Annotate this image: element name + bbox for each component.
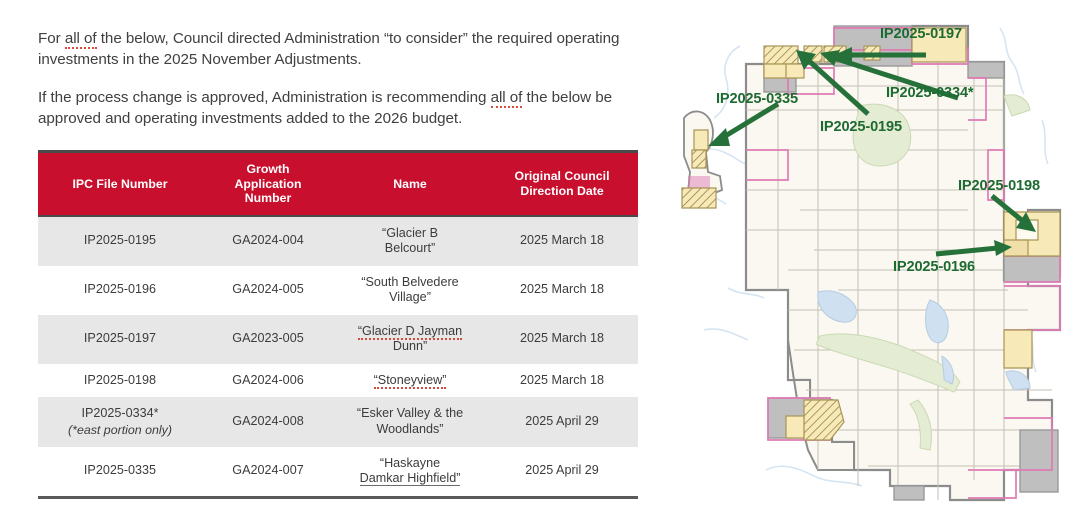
- header-line: Direction Date: [520, 184, 603, 198]
- direction-date-value: 2025 March 18: [520, 331, 604, 345]
- growth-area-north-solid: [786, 64, 804, 78]
- growth-area-se: [1004, 330, 1032, 368]
- paragraph-2-part-a: If the process change is approved, Admin…: [38, 89, 491, 106]
- cell-growth-application-number: GA2023-005: [202, 315, 334, 364]
- table-row: IP2025-0197 GA2023-005 “Glacier D Jayman…: [38, 315, 638, 364]
- header-line: Name: [393, 177, 427, 191]
- name-line-1: “Glacier B: [382, 226, 438, 240]
- cell-name: “Glacier B Belcourt”: [334, 216, 486, 266]
- cell-name: “Stoneyview”: [334, 364, 486, 398]
- name-line-1: “Esker Valley & the: [357, 406, 463, 420]
- ipc-file-number-note: (*east portion only): [42, 422, 198, 438]
- cell-ipc-file-number: IP2025-0335: [38, 447, 202, 498]
- ipc-file-number-value: IP2025-0196: [84, 282, 156, 296]
- ipc-file-table: IPC File Number Growth Application Numbe…: [38, 150, 638, 499]
- direction-date-value: 2025 March 18: [520, 282, 604, 296]
- map-label-ip2025-0198: IP2025-0198: [958, 178, 1040, 194]
- map-label-ip2025-0335: IP2025-0335: [716, 91, 798, 107]
- map-label-ip2025-0197: IP2025-0197: [880, 26, 962, 42]
- paragraph-1-part-a: For: [38, 30, 65, 47]
- ipc-file-number-value: IP2025-0197: [84, 331, 156, 345]
- cell-ipc-file-number: IP2025-0197: [38, 315, 202, 364]
- growth-area-nw-island-c: [682, 188, 716, 208]
- table-row: IP2025-0196 GA2024-005 “South Belvedere …: [38, 266, 638, 315]
- table-row: IP2025-0198 GA2024-006 “Stoneyview” 2025…: [38, 364, 638, 398]
- cell-original-council-direction-date: 2025 March 18: [486, 315, 638, 364]
- cell-original-council-direction-date: 2025 March 18: [486, 364, 638, 398]
- table-header: IPC File Number Growth Application Numbe…: [38, 152, 638, 216]
- growth-application-number-value: GA2024-008: [232, 414, 303, 428]
- header-line: Application: [235, 177, 302, 191]
- header-line: Original Council: [515, 169, 610, 183]
- ipc-file-number-value: IP2025-0198: [84, 373, 156, 387]
- cell-growth-application-number: GA2024-004: [202, 216, 334, 266]
- cell-ipc-file-number: IP2025-0196: [38, 266, 202, 315]
- name-line-1: “Glacier D Jayman: [358, 324, 462, 340]
- cell-original-council-direction-date: 2025 March 18: [486, 266, 638, 315]
- table-row: IP2025-0334* (*east portion only) GA2024…: [38, 397, 638, 447]
- cell-ipc-file-number: IP2025-0198: [38, 364, 202, 398]
- cell-original-council-direction-date: 2025 April 29: [486, 447, 638, 498]
- column-header-growth-application-number: Growth Application Number: [202, 152, 334, 216]
- intro-text-block: For all of the below, Council directed A…: [38, 28, 658, 129]
- intro-paragraph-1: For all of the below, Council directed A…: [38, 28, 658, 70]
- cell-original-council-direction-date: 2025 April 29: [486, 397, 638, 447]
- name-line-2: Dunn”: [393, 339, 427, 353]
- ipc-file-number-value: IP2025-0335: [84, 463, 156, 477]
- table-row: IP2025-0195 GA2024-004 “Glacier B Belcou…: [38, 216, 638, 266]
- cell-ipc-file-number: IP2025-0334* (*east portion only): [38, 397, 202, 447]
- map-label-ip2025-0195: IP2025-0195: [820, 119, 902, 135]
- name-line-2: Belcourt”: [385, 241, 435, 255]
- growth-area-nw-hatch: [764, 46, 798, 64]
- spellcheck-phrase: all of: [65, 30, 97, 49]
- header-line: IPC File Number: [73, 177, 168, 191]
- intro-paragraph-2: If the process change is approved, Admin…: [38, 87, 658, 129]
- ipc-file-number-value: IP2025-0195: [84, 233, 156, 247]
- cell-growth-application-number: GA2024-005: [202, 266, 334, 315]
- column-header-name: Name: [334, 152, 486, 216]
- calgary-growth-map: IP2025-0197 IP2025-0334* IP2025-0335 IP2…: [668, 0, 1092, 530]
- name-line-2: Woodlands”: [377, 422, 444, 436]
- cell-name: “Esker Valley & the Woodlands”: [334, 397, 486, 447]
- map-label-ip2025-0196: IP2025-0196: [893, 259, 975, 275]
- header-line: Number: [245, 191, 291, 205]
- name-line-2: Village”: [389, 290, 431, 304]
- paragraph-1-part-b: the below, Council directed Administrati…: [38, 30, 619, 68]
- ipc-file-table-container: IPC File Number Growth Application Numbe…: [38, 150, 638, 499]
- column-header-ipc-file-number: IPC File Number: [38, 152, 202, 216]
- growth-application-number-value: GA2024-006: [232, 373, 303, 387]
- name-line-2: Damkar Highfield”: [360, 471, 461, 486]
- cell-name: “Glacier D Jayman Dunn”: [334, 315, 486, 364]
- cell-ipc-file-number: IP2025-0195: [38, 216, 202, 266]
- cell-growth-application-number: GA2024-007: [202, 447, 334, 498]
- name-line-1: “Haskayne: [380, 456, 440, 470]
- direction-date-value: 2025 March 18: [520, 233, 604, 247]
- spellcheck-phrase: all of: [491, 89, 523, 108]
- header-line: Growth: [246, 162, 289, 176]
- cell-name: “South Belvedere Village”: [334, 266, 486, 315]
- map-label-ip2025-0334: IP2025-0334*: [886, 85, 973, 101]
- cell-original-council-direction-date: 2025 March 18: [486, 216, 638, 266]
- table-header-row: IPC File Number Growth Application Numbe…: [38, 152, 638, 216]
- ipc-file-number-value: IP2025-0334*: [81, 406, 158, 420]
- name-line-1: “Stoneyview”: [374, 373, 447, 389]
- map-graphic: [668, 0, 1092, 530]
- growth-application-number-value: GA2024-007: [232, 463, 303, 477]
- growth-application-number-value: GA2024-005: [232, 282, 303, 296]
- direction-date-value: 2025 March 18: [520, 373, 604, 387]
- table-body: IP2025-0195 GA2024-004 “Glacier B Belcou…: [38, 216, 638, 498]
- growth-area-nw-island-a: [694, 130, 708, 150]
- cell-growth-application-number: GA2024-006: [202, 364, 334, 398]
- direction-date-value: 2025 April 29: [525, 463, 599, 477]
- column-header-original-council-direction-date: Original Council Direction Date: [486, 152, 638, 216]
- growth-application-number-value: GA2024-004: [232, 233, 303, 247]
- growth-area-nw-island-b: [692, 150, 706, 168]
- name-line-1: “South Belvedere: [361, 275, 458, 289]
- direction-date-value: 2025 April 29: [525, 414, 599, 428]
- cell-growth-application-number: GA2024-008: [202, 397, 334, 447]
- table-row: IP2025-0335 GA2024-007 “Haskayne Damkar …: [38, 447, 638, 498]
- growth-area-south-solid: [786, 416, 804, 438]
- growth-application-number-value: GA2023-005: [232, 331, 303, 345]
- cell-name: “Haskayne Damkar Highfield”: [334, 447, 486, 498]
